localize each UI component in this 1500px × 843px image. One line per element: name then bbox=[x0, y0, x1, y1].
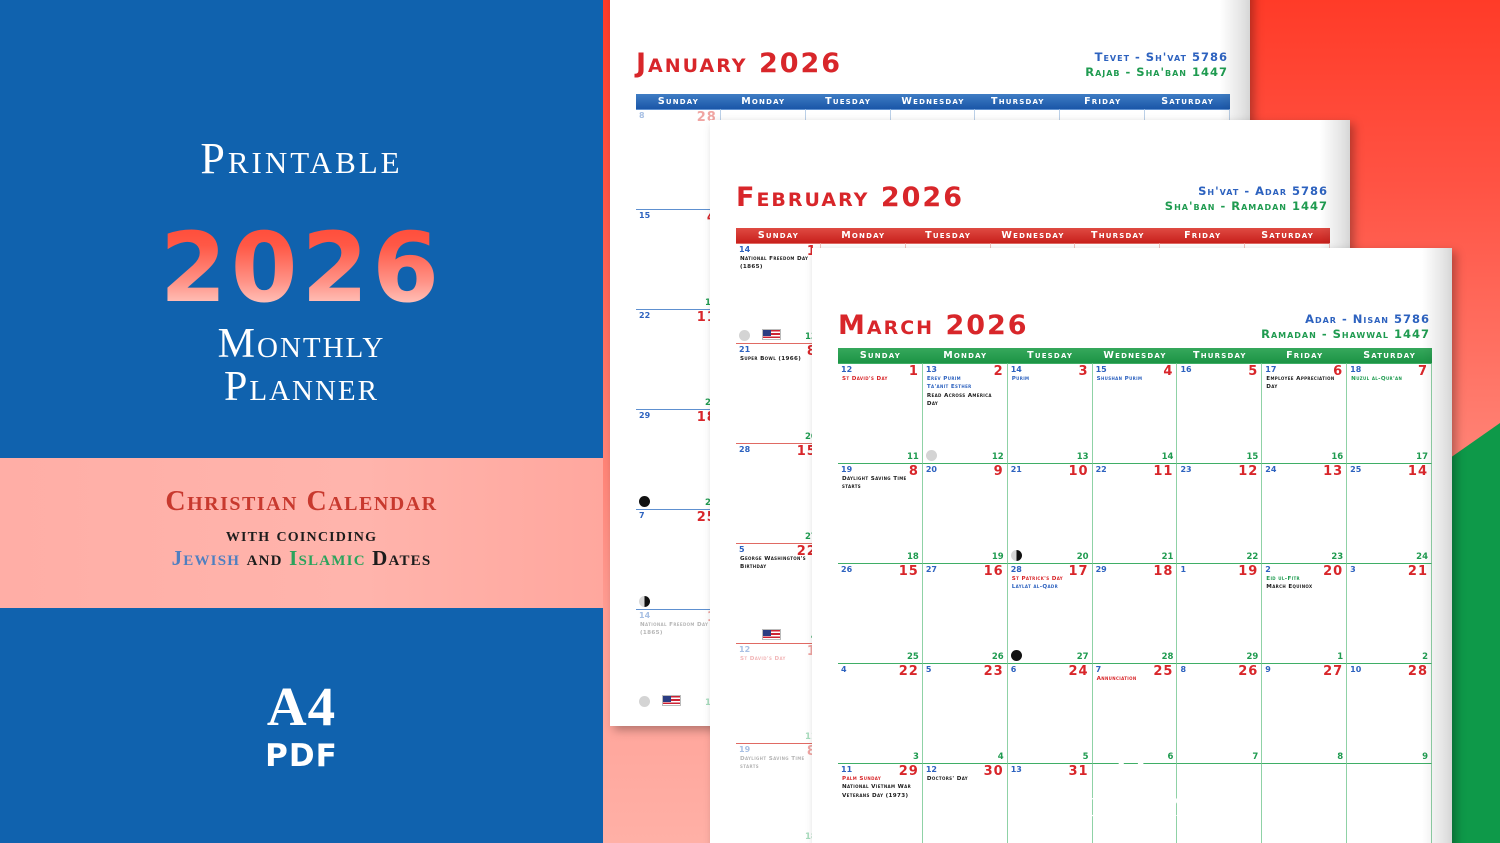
hebrew-day-number: 8 bbox=[1180, 665, 1186, 674]
gregorian-day-number: 10 bbox=[1068, 464, 1088, 479]
weekday-header-sunday: Sunday bbox=[838, 348, 923, 363]
event-label: Purim bbox=[1012, 375, 1089, 383]
day-events: St David's Day bbox=[740, 655, 817, 663]
calendar-week-row: 12111St David's Day13212Erev PurimTa'ani… bbox=[838, 363, 1432, 463]
hebrew-day-number: 25 bbox=[1350, 465, 1361, 474]
moon-phase-last-icon bbox=[1011, 550, 1022, 561]
promo-file-format: PDF bbox=[0, 738, 603, 774]
calendar-title-march: March 2026 bbox=[838, 310, 1029, 341]
hebrew-day-number: 7 bbox=[1096, 665, 1102, 674]
promo-year-text: 2026 bbox=[0, 212, 603, 324]
calendar-day-cell[interactable]: 281727St Patrick's DayLaylat al-Qadr bbox=[1008, 563, 1093, 663]
calendar-day-cell[interactable]: 271626 bbox=[923, 563, 1008, 663]
day-events: Annunciation bbox=[1097, 675, 1174, 683]
promo-christian-calendar-headline: Christian Calendar bbox=[0, 486, 603, 518]
calendar-day-cell[interactable]: 15415 bbox=[636, 209, 721, 309]
calendar-day-cell[interactable]: 112910Palm SundayNational Vietnam War Ve… bbox=[838, 763, 923, 843]
moon-phase-new-icon bbox=[639, 496, 650, 507]
calendar-day-cell[interactable]: 221122 bbox=[636, 309, 721, 409]
weekday-header-thursday: Thursday bbox=[1075, 228, 1160, 243]
us-flag-icon bbox=[762, 329, 781, 340]
document-count-number: 6 bbox=[1005, 722, 1255, 784]
calendar-day-cell[interactable]: 19818Daylight Saving Time starts bbox=[736, 743, 821, 843]
weekday-header-monday: Monday bbox=[721, 94, 806, 109]
weekday-header-saturday: Saturday bbox=[1245, 228, 1330, 243]
event-label: St Patrick's Day bbox=[1012, 575, 1089, 583]
event-label: Annunciation bbox=[1097, 675, 1174, 683]
hebrew-day-number: 28 bbox=[739, 445, 750, 454]
weekday-header-wednesday: Wednesday bbox=[1093, 348, 1178, 363]
islamic-day-number: 29 bbox=[1246, 652, 1258, 662]
hebrew-day-number: 21 bbox=[1011, 465, 1022, 474]
day-events: Eid ul-FitrMarch Equinox bbox=[1266, 575, 1343, 592]
hebrew-day-number: 20 bbox=[926, 465, 937, 474]
hebrew-months-february: Sh'vat - Adar 5786 bbox=[1165, 184, 1328, 199]
day-events: Palm SundayNational Vietnam War Veterans… bbox=[842, 775, 919, 800]
calendar-day-cell[interactable]: 16515 bbox=[1177, 363, 1262, 463]
hebrew-day-number: 2 bbox=[1265, 565, 1271, 574]
hebrew-months-january: Tevet - Sh'vat 5786 bbox=[1085, 50, 1228, 65]
islamic-day-number: 20 bbox=[1077, 552, 1089, 562]
moon-phase-new-icon bbox=[1011, 650, 1022, 661]
hebrew-day-number: 12 bbox=[739, 645, 750, 654]
hebrew-day-number: 29 bbox=[639, 411, 650, 420]
calendar-week-row: 19818Daylight Saving Time starts20919211… bbox=[838, 463, 1432, 563]
day-events: St Patrick's DayLaylat al-Qadr bbox=[1012, 575, 1089, 592]
event-label: National Vietnam War Veterans Day (1973) bbox=[842, 783, 919, 800]
calendar-day-cell[interactable]: 19818Daylight Saving Time starts bbox=[838, 463, 923, 563]
calendar-day-cell[interactable]: 11929 bbox=[1177, 563, 1262, 663]
event-label: St David's Day bbox=[740, 655, 817, 663]
islamic-day-number: 24 bbox=[1416, 552, 1428, 562]
hebrew-day-number: 9 bbox=[1265, 665, 1271, 674]
hebrew-day-number: 19 bbox=[739, 745, 750, 754]
gregorian-day-number: 28 bbox=[1408, 664, 1428, 679]
hebrew-day-number: 12 bbox=[841, 365, 852, 374]
hebrew-day-number: 5 bbox=[739, 545, 745, 554]
islamic-months-march: Ramadan - Shawwal 1447 bbox=[1261, 327, 1430, 342]
day-events: Shushan Purim bbox=[1097, 375, 1174, 383]
weekday-header-friday: Friday bbox=[1060, 94, 1145, 109]
calendar-day-cell[interactable]: 4223 bbox=[838, 663, 923, 763]
gregorian-day-number: 22 bbox=[899, 664, 919, 679]
hebrew-day-number: 7 bbox=[639, 511, 645, 520]
hebrew-day-number: 17 bbox=[1265, 365, 1276, 374]
weekday-header-sunday: Sunday bbox=[736, 228, 821, 243]
weekday-header-row-march: SundayMondayTuesdayWednesdayThursdayFrid… bbox=[838, 348, 1432, 363]
islamic-day-number: 25 bbox=[907, 652, 919, 662]
hebrew-day-number: 23 bbox=[1180, 465, 1191, 474]
us-flag-icon bbox=[662, 695, 681, 706]
promo-coinciding-line: with coinciding bbox=[0, 524, 603, 547]
weekday-header-sunday: Sunday bbox=[636, 94, 721, 109]
calendar-day-cell[interactable]: 291828 bbox=[1093, 563, 1178, 663]
calendar-day-cell[interactable]: 14113National Freedom Day (1865) bbox=[636, 609, 721, 709]
islamic-day-number: 13 bbox=[1077, 452, 1089, 462]
event-label: March Equinox bbox=[1266, 583, 1343, 591]
calendar-day-cell[interactable]: 5234 bbox=[923, 663, 1008, 763]
moon-phase-full-icon bbox=[639, 696, 650, 707]
hebrew-day-number: 1 bbox=[1180, 565, 1186, 574]
weekday-header-friday: Friday bbox=[1262, 348, 1347, 363]
weekday-header-wednesday: Wednesday bbox=[991, 228, 1076, 243]
event-label: Employee Appreciation Day bbox=[1266, 375, 1343, 392]
event-label: National Freedom Day (1865) bbox=[640, 621, 717, 638]
hebrew-day-number: 15 bbox=[1096, 365, 1107, 374]
islamic-day-number: 28 bbox=[1162, 652, 1174, 662]
day-events: Daylight Saving Time starts bbox=[740, 755, 817, 772]
islamic-day-number: 22 bbox=[1246, 552, 1258, 562]
weekday-header-thursday: Thursday bbox=[975, 94, 1060, 109]
calendar-day-cell[interactable] bbox=[1347, 763, 1432, 843]
promo-and-word: and bbox=[240, 546, 289, 570]
islamic-day-number: 26 bbox=[992, 652, 1004, 662]
calendar-day-cell[interactable]: 211020 bbox=[1008, 463, 1093, 563]
calendar-day-cell[interactable]: 12111St David's Day bbox=[838, 363, 923, 463]
calendar-day-cell[interactable]: 251424 bbox=[1347, 463, 1432, 563]
weekday-header-friday: Friday bbox=[1160, 228, 1245, 243]
event-label: Super Bowl (1966) bbox=[740, 355, 817, 363]
hebrew-day-number: 22 bbox=[639, 311, 650, 320]
islamic-day-number: 4 bbox=[998, 752, 1004, 762]
hebrew-day-number: 16 bbox=[1180, 365, 1191, 374]
weekday-header-row-february: SundayMondayTuesdayWednesdayThursdayFrid… bbox=[736, 228, 1330, 243]
promo-jewish-word: Jewish bbox=[172, 546, 241, 570]
promo-panel: Printable 2026 Monthly Planner Christian… bbox=[0, 0, 603, 843]
calendar-day-cell[interactable]: 7256 bbox=[636, 509, 721, 609]
hebrew-day-number: 3 bbox=[1350, 565, 1356, 574]
calendar-day-cell[interactable]: 17616Employee Appreciation Day bbox=[1262, 363, 1347, 463]
calendar-day-cell[interactable]: 20919 bbox=[923, 463, 1008, 563]
promo-jewish-islamic-line: Jewish and Islamic Dates bbox=[0, 546, 603, 571]
islamic-day-number: 8 bbox=[1337, 752, 1343, 762]
calendar-day-cell[interactable]: 18717Nuzul al-Qur'an bbox=[1347, 363, 1432, 463]
calendar-title-january: January 2026 bbox=[636, 48, 842, 79]
islamic-day-number: 14 bbox=[1162, 452, 1174, 462]
hebrew-day-number: 6 bbox=[1011, 665, 1017, 674]
hebrew-day-number: 14 bbox=[739, 245, 750, 254]
event-label: Ta'anit Esther bbox=[927, 383, 1004, 391]
event-label: Shushan Purim bbox=[1097, 375, 1174, 383]
calendar-day-cell[interactable]: 2201Eid ul-FitrMarch Equinox bbox=[1262, 563, 1347, 663]
calendar-day-cell[interactable]: 9278 bbox=[1262, 663, 1347, 763]
hebrew-day-number: 10 bbox=[1350, 665, 1361, 674]
islamic-day-number: 3 bbox=[913, 752, 919, 762]
islamic-day-number: 21 bbox=[1162, 552, 1174, 562]
hebrew-months-march: Adar - Nisan 5786 bbox=[1261, 312, 1430, 327]
gregorian-day-number: 24 bbox=[1068, 664, 1088, 679]
alt-calendar-months-january: Tevet - Sh'vat 5786Rajab - Sha'ban 1447 bbox=[1085, 50, 1228, 79]
gregorian-day-number: 26 bbox=[1238, 664, 1258, 679]
calendar-day-cell[interactable]: 13212Erev PurimTa'anit EstherRead Across… bbox=[923, 363, 1008, 463]
islamic-day-number: 9 bbox=[1422, 752, 1428, 762]
hebrew-day-number: 18 bbox=[1350, 365, 1361, 374]
hebrew-day-number: 26 bbox=[841, 565, 852, 574]
calendar-day-cell[interactable]: 10289 bbox=[1347, 663, 1432, 763]
moon-phase-full-icon bbox=[926, 450, 937, 461]
event-label: Erev Purim bbox=[927, 375, 1004, 383]
calendar-day-cell[interactable]: 281527 bbox=[736, 443, 821, 543]
promo-monthly-planner-text: Monthly Planner bbox=[0, 323, 603, 409]
calendar-day-cell[interactable]: 12111St David's Day bbox=[736, 643, 821, 743]
day-events: National Freedom Day (1865) bbox=[640, 621, 717, 638]
islamic-day-number: 18 bbox=[907, 552, 919, 562]
event-label: St David's Day bbox=[842, 375, 919, 383]
event-label: Nuzul al-Qur'an bbox=[1351, 375, 1428, 383]
gregorian-day-number: 18 bbox=[1153, 564, 1173, 579]
calendar-day-cell[interactable]: 3212 bbox=[1347, 563, 1432, 663]
event-label: Daylight Saving Time starts bbox=[740, 755, 817, 772]
calendar-title-february: February 2026 bbox=[736, 182, 964, 213]
day-events: George Washington's Birthday bbox=[740, 555, 817, 572]
weekday-header-saturday: Saturday bbox=[1145, 94, 1230, 109]
hebrew-day-number: 8 bbox=[639, 111, 645, 120]
islamic-day-number: 12 bbox=[992, 452, 1004, 462]
calendar-day-cell[interactable]: 5224George Washington's Birthday bbox=[736, 543, 821, 643]
gregorian-day-number: 16 bbox=[984, 564, 1004, 579]
document-count-label: Documents bbox=[955, 782, 1305, 826]
event-label: Palm Sunday bbox=[842, 775, 919, 783]
event-label: Daylight Saving Time starts bbox=[842, 475, 919, 492]
gregorian-day-number: 13 bbox=[1323, 464, 1343, 479]
gregorian-day-number: 12 bbox=[1238, 464, 1258, 479]
weekday-header-tuesday: Tuesday bbox=[1008, 348, 1093, 363]
hebrew-day-number: 11 bbox=[841, 765, 852, 774]
hebrew-day-number: 4 bbox=[841, 665, 847, 674]
event-label: George Washington's Birthday bbox=[740, 555, 817, 572]
promo-planner-line: Planner bbox=[224, 364, 379, 410]
weekday-header-thursday: Thursday bbox=[1177, 348, 1262, 363]
weekday-header-monday: Monday bbox=[821, 228, 906, 243]
promo-paper-size: A4 bbox=[0, 675, 603, 738]
calendar-day-cell[interactable]: 291829 bbox=[636, 409, 721, 509]
islamic-day-number: 2 bbox=[1422, 652, 1428, 662]
event-label: Read Across America Day bbox=[927, 392, 1004, 409]
gregorian-day-number: 21 bbox=[1408, 564, 1428, 579]
gregorian-day-number: 5 bbox=[1248, 364, 1258, 379]
hebrew-day-number: 29 bbox=[1096, 565, 1107, 574]
day-events: Erev PurimTa'anit EstherRead Across Amer… bbox=[927, 375, 1004, 409]
hebrew-day-number: 21 bbox=[739, 345, 750, 354]
event-label: National Freedom Day (1865) bbox=[740, 255, 817, 272]
calendar-day-cell[interactable]: 261525 bbox=[838, 563, 923, 663]
promo-islamic-word: Islamic bbox=[289, 546, 366, 570]
day-events: Super Bowl (1966) bbox=[740, 355, 817, 363]
islamic-months-january: Rajab - Sha'ban 1447 bbox=[1085, 65, 1228, 80]
calendar-day-cell[interactable]: 14313Purim bbox=[1008, 363, 1093, 463]
weekday-header-wednesday: Wednesday bbox=[891, 94, 976, 109]
hebrew-day-number: 27 bbox=[926, 565, 937, 574]
calendar-day-cell[interactable]: 8289 bbox=[636, 109, 721, 209]
islamic-day-number: 27 bbox=[1077, 652, 1089, 662]
calendar-week-row: 261525271626281727St Patrick's DayLaylat… bbox=[838, 563, 1432, 663]
calendar-day-cell[interactable]: 231222 bbox=[1177, 463, 1262, 563]
moon-phase-full-icon bbox=[739, 330, 750, 341]
gregorian-day-number: 14 bbox=[1408, 464, 1428, 479]
hebrew-day-number: 13 bbox=[926, 365, 937, 374]
calendar-day-cell[interactable]: 14113National Freedom Day (1865) bbox=[736, 243, 821, 343]
alt-calendar-months-march: Adar - Nisan 5786Ramadan - Shawwal 1447 bbox=[1261, 312, 1430, 341]
event-label: Eid ul-Fitr bbox=[1266, 575, 1343, 583]
day-events: National Freedom Day (1865) bbox=[740, 255, 817, 272]
islamic-day-number: 23 bbox=[1331, 552, 1343, 562]
alt-calendar-months-february: Sh'vat - Adar 5786Sha'ban - Ramadan 1447 bbox=[1165, 184, 1328, 213]
day-events: Purim bbox=[1012, 375, 1089, 383]
islamic-day-number: 16 bbox=[1331, 452, 1343, 462]
hebrew-day-number: 14 bbox=[639, 611, 650, 620]
day-events: St David's Day bbox=[842, 375, 919, 383]
islamic-day-number: 19 bbox=[992, 552, 1004, 562]
gregorian-day-number: 27 bbox=[1323, 664, 1343, 679]
hebrew-day-number: 5 bbox=[926, 665, 932, 674]
calendar-day-cell[interactable]: 241323 bbox=[1262, 463, 1347, 563]
calendar-day-cell[interactable]: 15414Shushan Purim bbox=[1093, 363, 1178, 463]
weekday-header-saturday: Saturday bbox=[1347, 348, 1432, 363]
moon-phase-last-icon bbox=[639, 596, 650, 607]
gregorian-day-number: 15 bbox=[899, 564, 919, 579]
hebrew-day-number: 22 bbox=[1096, 465, 1107, 474]
promo-dates-word: Dates bbox=[366, 546, 432, 570]
islamic-day-number: 15 bbox=[1246, 452, 1258, 462]
calendar-day-cell[interactable]: 221121 bbox=[1093, 463, 1178, 563]
hebrew-day-number: 15 bbox=[639, 211, 650, 220]
islamic-day-number: 17 bbox=[1416, 452, 1428, 462]
calendar-day-cell[interactable]: 21820Super Bowl (1966) bbox=[736, 343, 821, 443]
islamic-day-number: 11 bbox=[907, 452, 919, 462]
weekday-header-row-january: SundayMondayTuesdayWednesdayThursdayFrid… bbox=[636, 94, 1230, 109]
hebrew-day-number: 28 bbox=[1011, 565, 1022, 574]
weekday-header-tuesday: Tuesday bbox=[906, 228, 991, 243]
gregorian-day-number: 11 bbox=[1153, 464, 1173, 479]
islamic-day-number: 1 bbox=[1337, 652, 1343, 662]
poster-canvas: Printable 2026 Monthly Planner Christian… bbox=[0, 0, 1500, 843]
us-flag-icon bbox=[762, 629, 781, 640]
day-events: Employee Appreciation Day bbox=[1266, 375, 1343, 392]
day-events: Daylight Saving Time starts bbox=[842, 475, 919, 492]
hebrew-day-number: 19 bbox=[841, 465, 852, 474]
hebrew-day-number: 14 bbox=[1011, 365, 1022, 374]
event-label: Laylat al-Qadr bbox=[1012, 583, 1089, 591]
gregorian-day-number: 23 bbox=[984, 664, 1004, 679]
weekday-header-monday: Monday bbox=[923, 348, 1008, 363]
promo-printable-text: Printable bbox=[0, 133, 603, 184]
hebrew-day-number: 12 bbox=[926, 765, 937, 774]
islamic-months-february: Sha'ban - Ramadan 1447 bbox=[1165, 199, 1328, 214]
gregorian-day-number: 19 bbox=[1238, 564, 1258, 579]
gregorian-day-number: 9 bbox=[994, 464, 1004, 479]
hebrew-day-number: 24 bbox=[1265, 465, 1276, 474]
day-events: Nuzul al-Qur'an bbox=[1351, 375, 1428, 383]
weekday-header-tuesday: Tuesday bbox=[806, 94, 891, 109]
promo-monthly-line: Monthly bbox=[218, 321, 386, 367]
